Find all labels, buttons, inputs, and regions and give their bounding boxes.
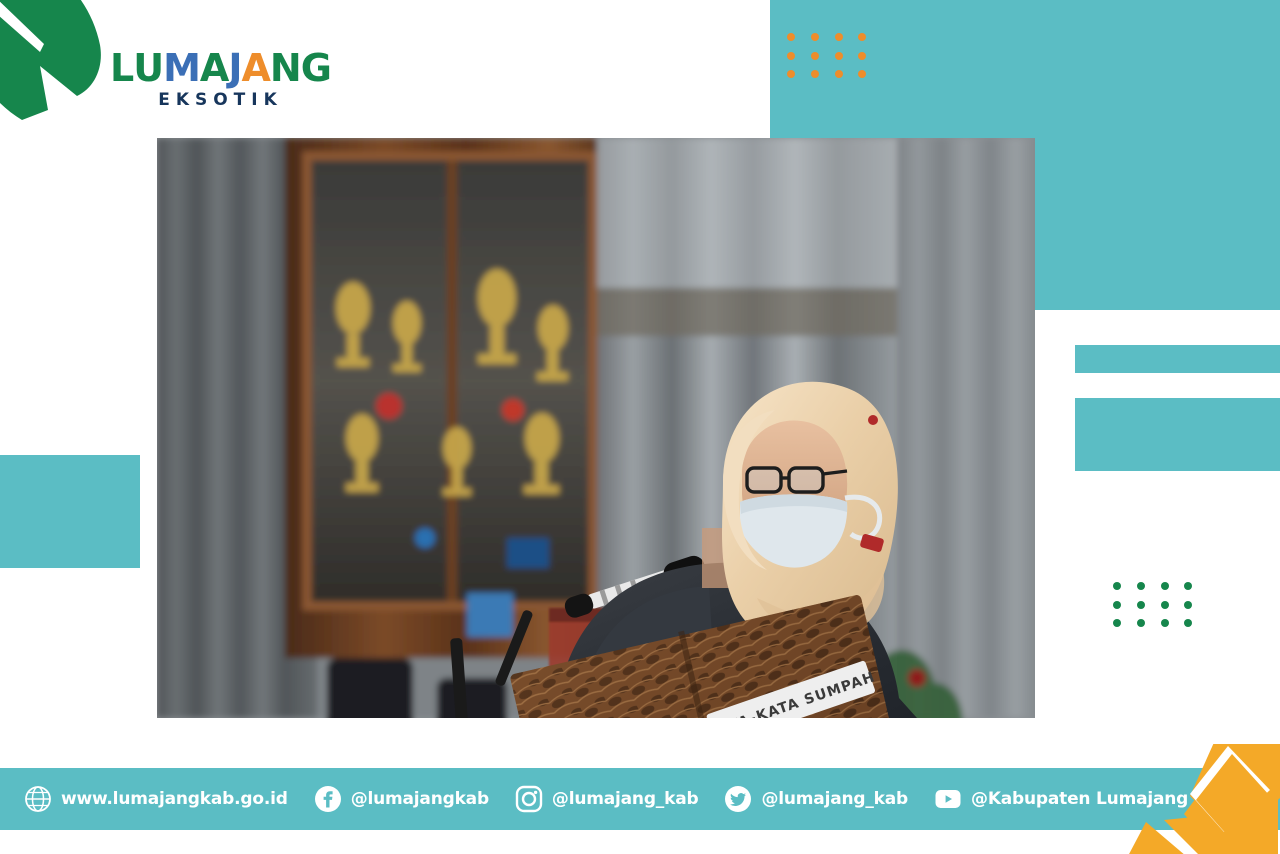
dot [787, 52, 795, 60]
event-photograph: KATA-KATA SUMPAH WAKIL BUPATI [157, 138, 1035, 718]
dot [858, 33, 866, 41]
youtube-icon [934, 785, 962, 813]
dot [811, 52, 819, 60]
logo-letter-1: U [133, 48, 163, 88]
dot [1184, 601, 1192, 609]
logo-wordmark: LUMAJANG [110, 48, 325, 88]
dot [835, 33, 843, 41]
dot [1161, 582, 1169, 590]
dot [1113, 601, 1121, 609]
dot [1161, 619, 1169, 627]
logo-letter-3: A [200, 48, 228, 88]
teal-accent-block [1075, 398, 1280, 471]
twitter-icon [724, 785, 752, 813]
logo-letter-7: G [301, 48, 331, 88]
footer-link-label: @lumajang_kab [552, 789, 699, 809]
dot [1113, 582, 1121, 590]
green-dot-grid-icon [1113, 582, 1208, 638]
logo-letter-5: A [241, 48, 269, 88]
dot [1137, 582, 1145, 590]
footer-link-label: www.lumajangkab.go.id [61, 789, 288, 809]
dot [787, 70, 795, 78]
dot [811, 33, 819, 41]
social-footer-bar: www.lumajangkab.go.id@lumajangkab@lumaja… [0, 768, 1280, 830]
dot [1184, 582, 1192, 590]
dot [787, 33, 795, 41]
footer-link-facebook[interactable]: @lumajangkab [314, 785, 489, 813]
dot [835, 70, 843, 78]
poster-canvas: LUMAJANG EKSOTIK [0, 0, 1280, 854]
orange-leaf-corner-icon [1128, 744, 1280, 854]
logo-letter-2: M [163, 48, 200, 88]
logo-letter-6: N [270, 48, 301, 88]
facebook-icon [314, 785, 342, 813]
dot [1137, 619, 1145, 627]
footer-link-globe[interactable]: www.lumajangkab.go.id [24, 785, 288, 813]
globe-icon [24, 785, 52, 813]
instagram-icon [515, 785, 543, 813]
teal-accent-bar [1075, 345, 1280, 373]
footer-link-label: @lumajangkab [351, 789, 489, 809]
logo-letter-0: L [110, 48, 133, 88]
logo-tagline: EKSOTIK [110, 90, 325, 110]
dot [858, 70, 866, 78]
footer-link-twitter[interactable]: @lumajang_kab [724, 785, 908, 813]
orange-dot-grid-icon [787, 33, 882, 89]
footer-link-instagram[interactable]: @lumajang_kab [515, 785, 699, 813]
dot [1137, 601, 1145, 609]
footer-link-label: @lumajang_kab [761, 789, 908, 809]
dot [858, 52, 866, 60]
teal-accent-left [0, 455, 140, 568]
green-leaf-icon [0, 0, 110, 140]
lumajang-eksotik-logo: LUMAJANG EKSOTIK [110, 48, 325, 110]
dot [1161, 601, 1169, 609]
dot [835, 52, 843, 60]
logo-letter-4: J [228, 48, 241, 88]
dot [1184, 619, 1192, 627]
dot [811, 70, 819, 78]
dot [1113, 619, 1121, 627]
